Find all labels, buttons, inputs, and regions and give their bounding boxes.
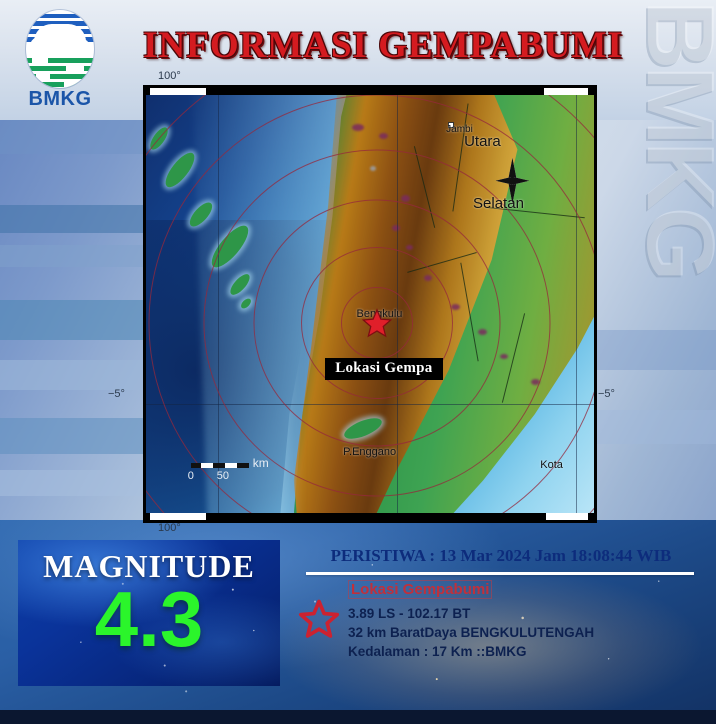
info-star-icon (298, 598, 340, 640)
logo-oval (26, 10, 94, 88)
map-tick-bar-top (146, 88, 594, 95)
magnitude-value: 4.3 (18, 580, 280, 658)
depth-line: Kedalaman : 17 Km ::BMKG (348, 644, 594, 659)
info-lines: Lokasi Gempabumi 3.89 LS - 102.17 BT 32 … (348, 580, 594, 659)
scale-unit-label: km (253, 456, 269, 470)
info-panel: PERISTIWA : 13 Mar 2024 Jam 18:08:44 WIB… (296, 540, 700, 686)
map-label-utara: Utara (464, 133, 501, 150)
background-bottom-bar (0, 710, 716, 724)
map-coord-right: −5° (598, 388, 615, 400)
scale-end-label: 50 (217, 470, 229, 482)
bmkg-logo-icon: BMKG (12, 8, 108, 104)
map-frame[interactable]: Jambi Utara Selatan Bengkulu P.Enggano K… (143, 85, 597, 523)
coordinates-line: 3.89 LS - 102.17 BT (348, 606, 594, 621)
logo-label: BMKG (12, 88, 108, 111)
epicenter-callout-label: Lokasi Gempa (325, 358, 442, 380)
map-container[interactable]: 100° 100° −5° −5° (140, 70, 600, 535)
compass-rose-icon (495, 158, 529, 204)
page-title: INFORMASI GEMPABUMI (118, 24, 648, 67)
divider (306, 572, 694, 575)
logo-cloud-icon (34, 24, 86, 54)
map-canvas[interactable]: Jambi Utara Selatan Bengkulu P.Enggano K… (146, 95, 594, 513)
map-label-enggano: P.Enggano (343, 446, 396, 458)
map-label-kota: Kota (540, 459, 563, 471)
map-tick-bar-bottom (146, 513, 594, 520)
scale-start-label: 0 (188, 470, 194, 482)
epicenter-star-icon (362, 308, 392, 338)
map-coord-left: −5° (108, 388, 125, 400)
magnitude-panel: MAGNITUDE 4.3 (18, 540, 280, 686)
map-coord-top: 100° (158, 70, 181, 82)
map-coord-bottom: 100° (158, 522, 181, 534)
lokasi-gempabumi-title: Lokasi Gempabumi (348, 580, 492, 599)
event-datetime: PERISTIWA : 13 Mar 2024 Jam 18:08:44 WIB (306, 546, 696, 566)
region-line: 32 km BaratDaya BENGKULUTENGAH (348, 625, 594, 640)
